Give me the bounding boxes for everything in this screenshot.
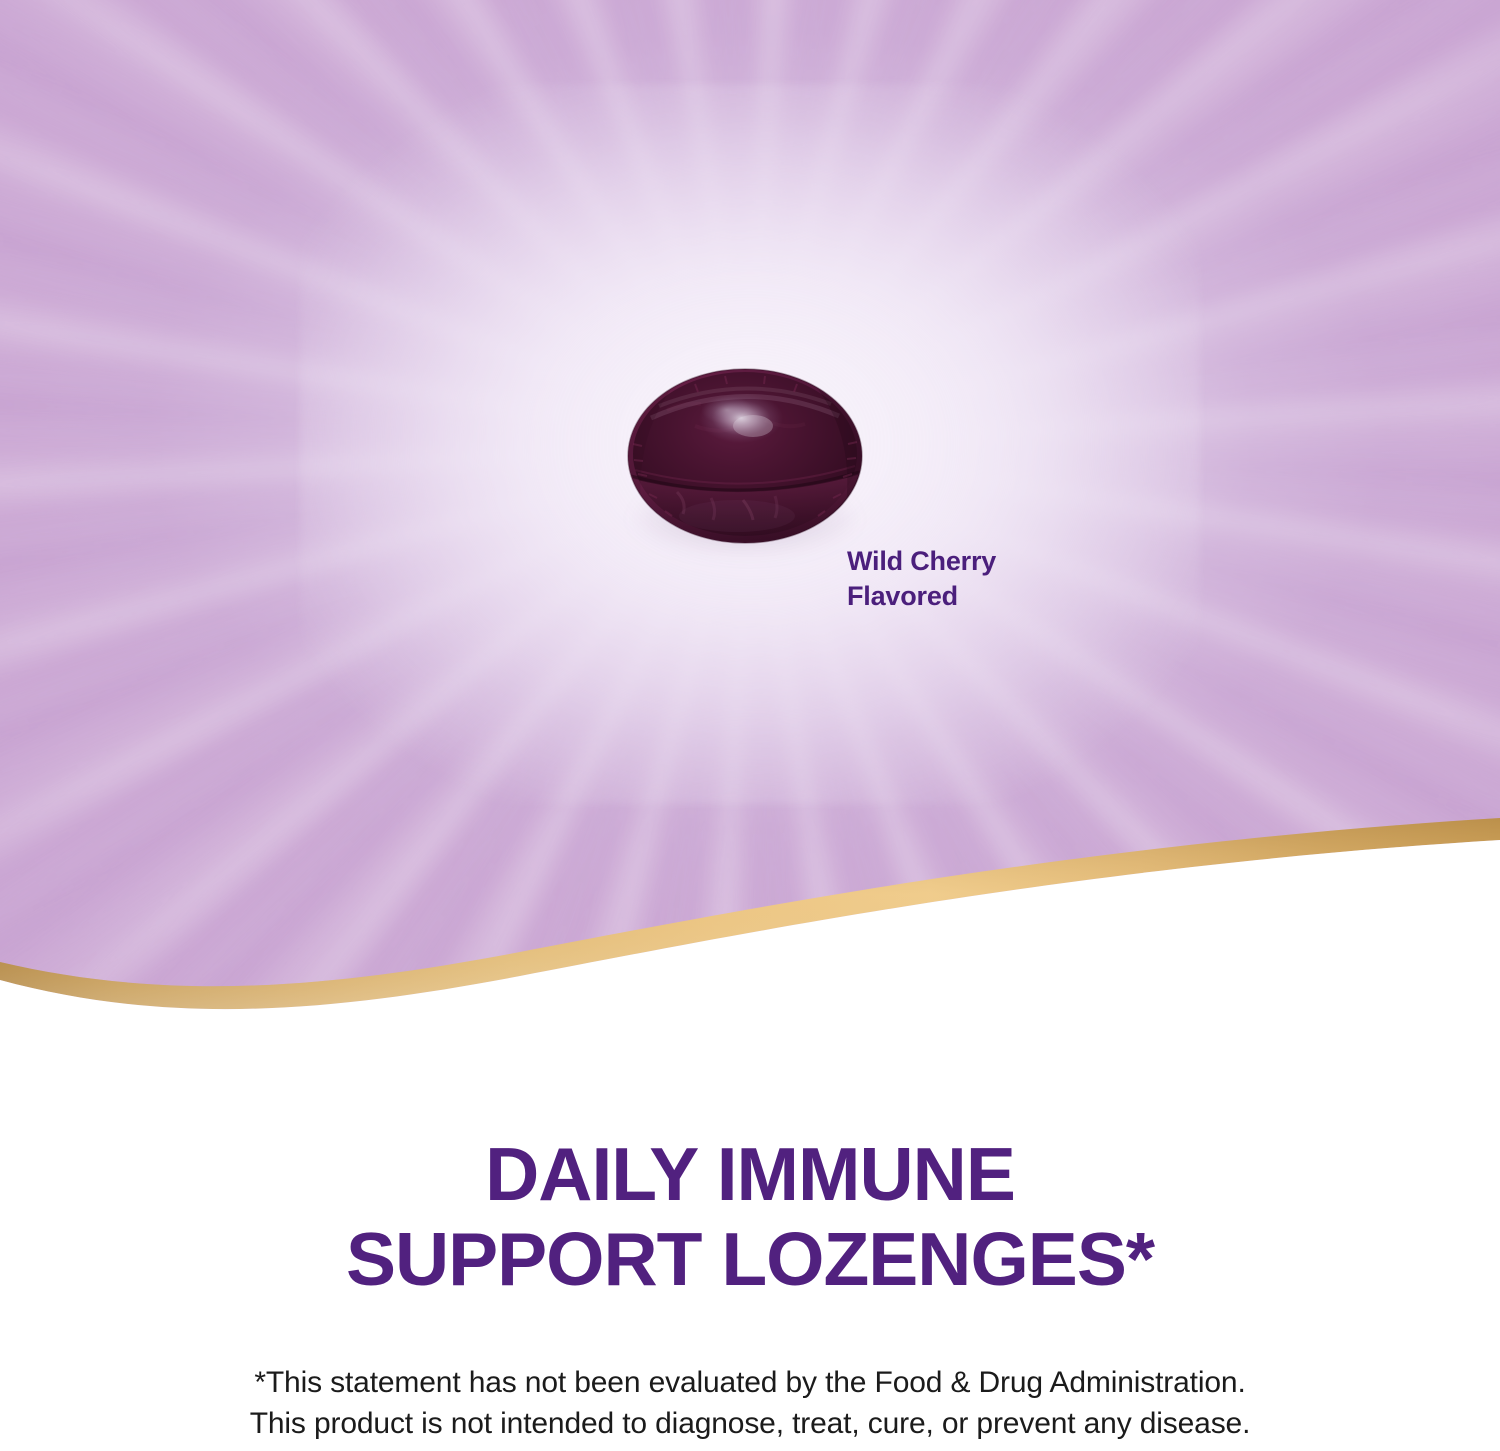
page-title: DAILY IMMUNE SUPPORT LOZENGES* [0,1132,1500,1302]
product-photo [625,366,865,550]
wild-cherry-lozenge-icon [625,366,865,550]
fda-disclaimer: *This statement has not been evaluated b… [0,1362,1500,1444]
disclaimer-line-2: This product is not intended to diagnose… [0,1403,1500,1444]
flavor-line-1: Wild Cherry [847,544,1107,579]
flavor-callout: Wild Cherry Flavored [847,544,1107,614]
product-marketing-image: Wild Cherry Flavored [0,0,1500,1451]
flavor-line-2: Flavored [847,579,1107,614]
headline-line-1: DAILY IMMUNE [0,1132,1500,1217]
headline-line-2: SUPPORT LOZENGES* [0,1217,1500,1302]
disclaimer-line-1: *This statement has not been evaluated b… [0,1362,1500,1403]
